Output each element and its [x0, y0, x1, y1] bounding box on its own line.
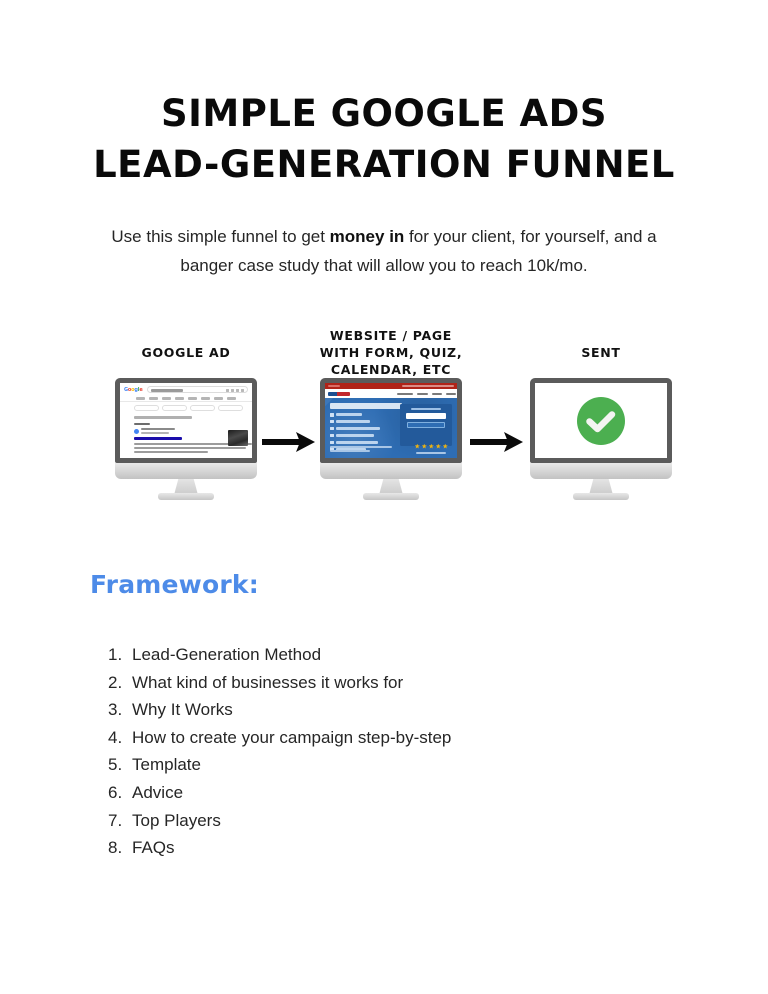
check-icon — [330, 427, 334, 431]
plumber-star-rating — [415, 444, 449, 450]
call-card-eyebrow — [411, 408, 441, 410]
arrow-right-icon-1 — [262, 431, 316, 453]
plumber-hero-footnote — [330, 446, 392, 452]
list-item-label: Advice — [132, 779, 183, 807]
list-item-number: 7. — [108, 807, 132, 835]
tab-shopping[interactable] — [188, 397, 197, 400]
result-site-name — [141, 428, 175, 430]
monitor-screen-plumber-landing — [325, 383, 457, 458]
nav-item-4[interactable] — [446, 393, 456, 395]
monitor-base — [158, 493, 214, 500]
tab-videos[interactable] — [175, 397, 184, 400]
google-results-body — [120, 414, 252, 453]
list-item-number: 4. — [108, 724, 132, 752]
list-item-number: 3. — [108, 696, 132, 724]
chip-3[interactable] — [190, 405, 215, 411]
stage-label-sent: SENT — [520, 344, 682, 361]
tab-tools[interactable] — [227, 397, 236, 400]
framework-list: 1. Lead-Generation Method 2. What kind o… — [108, 641, 648, 862]
plumber-navbar — [325, 389, 457, 398]
benefit-item — [330, 420, 380, 424]
monitor-website-page — [320, 378, 462, 500]
subtitle-part-1: Use this simple funnel to get — [111, 227, 329, 246]
list-item: 1. Lead-Generation Method — [108, 641, 648, 669]
arrow-right-icon-2 — [470, 431, 524, 453]
google-results-meta — [134, 416, 192, 419]
tab-news[interactable] — [201, 397, 210, 400]
check-icon — [330, 434, 334, 438]
utility-bar-left-text — [328, 385, 340, 387]
title-line-1: SIMPLE GOOGLE ADS — [0, 88, 768, 139]
list-item-number: 8. — [108, 834, 132, 862]
monitor-bezel — [530, 378, 672, 463]
google-filter-chips[interactable] — [120, 402, 252, 414]
google-search-query-text — [151, 389, 183, 392]
list-item-number: 5. — [108, 751, 132, 779]
tab-more[interactable] — [214, 397, 223, 400]
monitor-chin — [115, 463, 257, 479]
tab-maps[interactable] — [149, 397, 158, 400]
list-item: 4. How to create your campaign step-by-s… — [108, 724, 648, 752]
site-favicon-icon — [134, 429, 139, 434]
list-item-number: 2. — [108, 669, 132, 697]
clear-icon[interactable] — [226, 389, 229, 393]
list-item: 8. FAQs — [108, 834, 648, 862]
monitor-chin — [320, 463, 462, 479]
chip-2[interactable] — [162, 405, 187, 411]
star-icon — [443, 444, 449, 450]
plumber-phone-number[interactable] — [406, 413, 446, 419]
result-snippet-line-2 — [134, 447, 246, 449]
check-circle-icon — [576, 396, 626, 446]
plumber-logo-icon — [328, 392, 350, 396]
google-logo-icon: Google — [124, 387, 143, 393]
google-section-header — [134, 423, 150, 426]
list-item-number: 1. — [108, 641, 132, 669]
result-snippet-line-3 — [134, 451, 208, 453]
plumber-contact-button[interactable] — [407, 422, 445, 428]
monitor-chin — [530, 463, 672, 479]
framework-heading: Framework: — [90, 570, 259, 599]
list-item: 7. Top Players — [108, 807, 648, 835]
check-icon — [330, 413, 334, 417]
plumber-hero-headline — [330, 403, 402, 409]
list-item-label: What kind of businesses it works for — [132, 669, 403, 697]
list-item-label: Why It Works — [132, 696, 233, 724]
funnel-diagram: GOOGLE AD WEBSITE / PAGE WITH FORM, QUIZ… — [0, 318, 768, 508]
nav-item-1[interactable] — [397, 393, 413, 395]
list-item-label: Template — [132, 751, 201, 779]
nav-item-3[interactable] — [432, 393, 442, 395]
page-title: SIMPLE GOOGLE ADS LEAD-GENERATION FUNNEL — [0, 88, 768, 190]
stage-label-website-line-3: CALENDAR, ETC — [305, 361, 477, 378]
monitor-bezel — [320, 378, 462, 463]
document-page: SIMPLE GOOGLE ADS LEAD-GENERATION FUNNEL… — [0, 0, 768, 994]
list-item: 3. Why It Works — [108, 696, 648, 724]
result-thumbnail-image — [228, 430, 248, 446]
star-icon — [436, 444, 442, 450]
plumber-review-count — [416, 452, 446, 454]
stage-label-website-page: WEBSITE / PAGE WITH FORM, QUIZ, CALENDAR… — [305, 327, 477, 378]
result-breadcrumb — [141, 432, 169, 434]
google-search-input[interactable] — [147, 386, 248, 393]
tab-all[interactable] — [136, 397, 145, 400]
list-item-label: Top Players — [132, 807, 221, 835]
monitor-screen-success — [535, 383, 667, 458]
keyboard-icon[interactable] — [231, 389, 234, 393]
nav-item-2[interactable] — [417, 393, 428, 395]
list-item: 2. What kind of businesses it works for — [108, 669, 648, 697]
subtitle-paragraph: Use this simple funnel to get money in f… — [96, 222, 672, 280]
list-item-label: FAQs — [132, 834, 175, 862]
google-search-icons — [226, 389, 244, 393]
benefit-item — [330, 413, 380, 417]
microphone-icon[interactable] — [236, 389, 239, 393]
chip-4[interactable] — [218, 405, 243, 411]
tab-images[interactable] — [162, 397, 171, 400]
check-icon — [330, 420, 334, 424]
monitor-base — [573, 493, 629, 500]
success-screen-content — [535, 383, 667, 458]
monitor-google-ad: Google — [115, 378, 257, 500]
check-icon — [330, 441, 334, 445]
monitor-screen-google-search: Google — [120, 383, 252, 458]
star-icon — [429, 444, 435, 450]
monitor-base — [363, 493, 419, 500]
subtitle-emphasis: money in — [330, 227, 405, 246]
plumber-hero-section — [325, 398, 457, 458]
search-icon[interactable] — [241, 389, 244, 393]
list-item: 5. Template — [108, 751, 648, 779]
google-result-link-local-plumbers[interactable] — [134, 437, 182, 441]
title-line-2: LEAD-GENERATION FUNNEL — [0, 139, 768, 190]
google-result-url — [141, 428, 175, 434]
monitor-sent — [530, 378, 672, 500]
monitor-bezel: Google — [115, 378, 257, 463]
google-result-tabs[interactable] — [120, 395, 252, 402]
stage-label-website-line-2: WITH FORM, QUIZ, — [305, 344, 477, 361]
star-icon — [422, 444, 428, 450]
benefit-item — [330, 434, 380, 438]
stage-label-website-line-1: WEBSITE / PAGE — [305, 327, 477, 344]
stage-label-google-ad: GOOGLE AD — [105, 344, 267, 361]
utility-bar-right-links[interactable] — [402, 385, 454, 387]
star-icon — [415, 444, 421, 450]
list-item: 6. Advice — [108, 779, 648, 807]
list-item-number: 6. — [108, 779, 132, 807]
benefit-item — [330, 427, 380, 431]
benefit-item — [330, 441, 380, 445]
chip-1[interactable] — [134, 405, 159, 411]
list-item-label: Lead-Generation Method — [132, 641, 321, 669]
list-item-label: How to create your campaign step-by-step — [132, 724, 451, 752]
google-header: Google — [120, 383, 252, 395]
plumber-call-card — [400, 404, 452, 446]
